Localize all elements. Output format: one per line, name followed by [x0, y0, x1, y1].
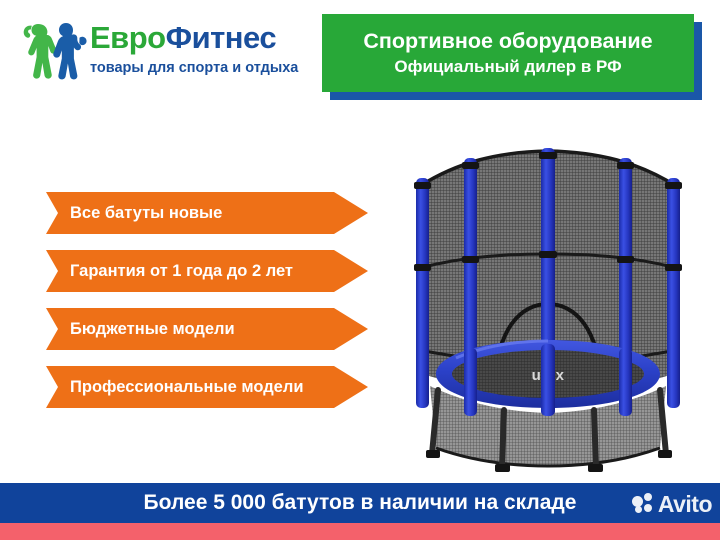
footer-text: Более 5 000 батутов в наличии на складе — [144, 491, 577, 515]
brand-tagline: товары для спорта и отдыха — [90, 58, 332, 78]
feature-item: Бюджетные модели — [46, 308, 368, 350]
headline-primary: Спортивное оборудование — [363, 28, 652, 55]
brand-name-blue: Фитнес — [166, 20, 277, 55]
feature-label: Бюджетные модели — [46, 320, 235, 339]
avito-logo-icon — [632, 493, 656, 515]
trampoline-product-image: unix — [398, 118, 698, 473]
brand-logo: ЕвроФитнес товары для спорта и отдыха — [22, 18, 332, 92]
footer-banner: Более 5 000 батутов в наличии на складе — [0, 483, 720, 523]
feature-label: Все батуты новые — [46, 204, 222, 223]
advertisement-banner: ЕвроФитнес товары для спорта и отдыха Сп… — [0, 0, 720, 540]
feature-item: Все батуты новые — [46, 192, 368, 234]
feature-label: Гарантия от 1 года до 2 лет — [46, 262, 293, 281]
fitness-figures-icon — [22, 20, 88, 82]
headline-secondary: Официальный дилер в РФ — [394, 55, 621, 78]
headline-plaque: Спортивное оборудование Официальный диле… — [322, 14, 694, 92]
feature-item: Профессиональные модели — [46, 366, 368, 408]
brand-wordmark-block: ЕвроФитнес товары для спорта и отдыха — [90, 18, 332, 78]
footer-accent-strip — [0, 523, 720, 540]
feature-list: Все батуты новые Гарантия от 1 года до 2… — [46, 192, 368, 424]
avito-watermark-text: Avito — [658, 491, 712, 518]
feature-item: Гарантия от 1 года до 2 лет — [46, 250, 368, 292]
brand-name-green: Евро — [90, 20, 166, 55]
feature-label: Профессиональные модели — [46, 378, 303, 397]
headline-plaque-face: Спортивное оборудование Официальный диле… — [322, 14, 694, 92]
avito-watermark: Avito — [632, 489, 712, 519]
brand-wordmark: ЕвроФитнес — [90, 18, 332, 58]
